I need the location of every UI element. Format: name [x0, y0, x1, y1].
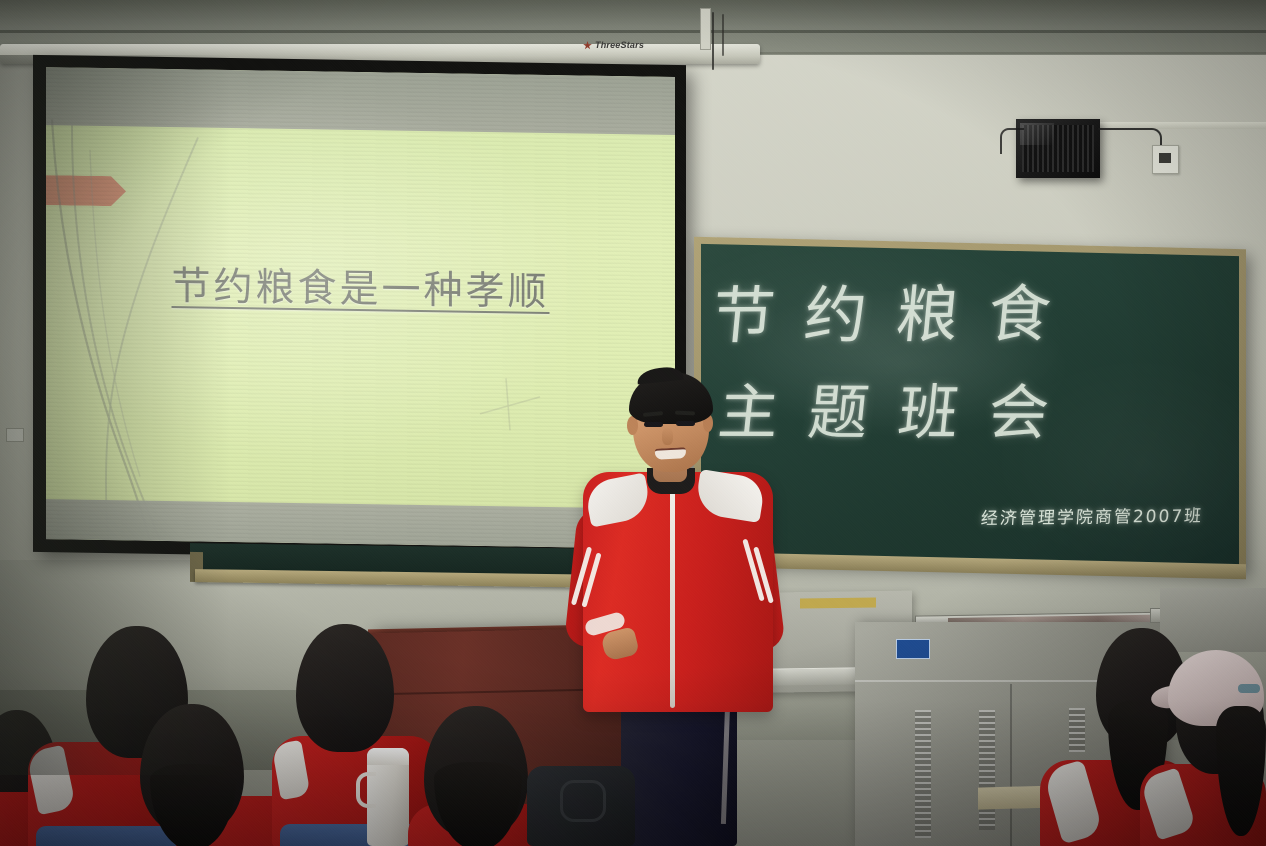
- presenter-nose: [662, 428, 673, 445]
- outlet-slot-icon: [1159, 153, 1171, 163]
- speaker-highlight: [1020, 123, 1054, 145]
- backpack-strap-icon: [560, 780, 606, 822]
- slide-faint-mark-icon: [476, 374, 546, 435]
- presenter-mouth: [655, 447, 687, 460]
- cabinet-vent-3: [1069, 708, 1085, 752]
- presenter-eye-right: [676, 421, 695, 426]
- roller-bracket: [700, 8, 711, 50]
- side-cabinet[interactable]: [1160, 588, 1266, 652]
- blackboard-surface: 节约粮食 主题班会 经济管理学院商管2007班: [701, 244, 1239, 565]
- roller-pull-cord-secondary[interactable]: [722, 14, 724, 56]
- power-outlet[interactable]: [1152, 145, 1179, 174]
- cabinet-vent-1: [915, 710, 931, 838]
- ceiling-seam: [0, 30, 1266, 33]
- presenter-trousers: [621, 700, 737, 846]
- speaker-cable-left: [1000, 128, 1024, 154]
- roller-pull-cord[interactable]: [712, 12, 714, 70]
- thermos-cap: [367, 748, 409, 765]
- slide-decorative-stems-icon: [46, 119, 226, 542]
- chair-back-1: [36, 826, 176, 846]
- cap-strap: [1238, 684, 1260, 693]
- thermos-handle: [356, 772, 376, 808]
- student-head-3: [296, 624, 394, 752]
- cabinet-vent-2: [979, 710, 995, 830]
- blackboard-heading-line1: 节约粮食: [709, 263, 1085, 355]
- presenter-eye-left: [644, 422, 663, 427]
- presenter-jacket-zipper: [670, 484, 675, 708]
- cabinet-warning-sticker: [800, 597, 876, 608]
- wall-bracket-icon: [6, 428, 24, 442]
- cabinet-blue-badge: [896, 639, 930, 659]
- cabinet-door-seam: [1010, 684, 1012, 846]
- wall-speaker: [1016, 119, 1100, 178]
- blackboard-class-signature: 经济管理学院商管2007班: [980, 501, 1204, 529]
- slide-title: 节约粮食是一种孝顺: [46, 253, 675, 319]
- screen-brand-label: ThreeStars: [595, 40, 644, 50]
- classroom-scene: ThreeStars 节约粮食是一种孝顺: [0, 0, 1266, 846]
